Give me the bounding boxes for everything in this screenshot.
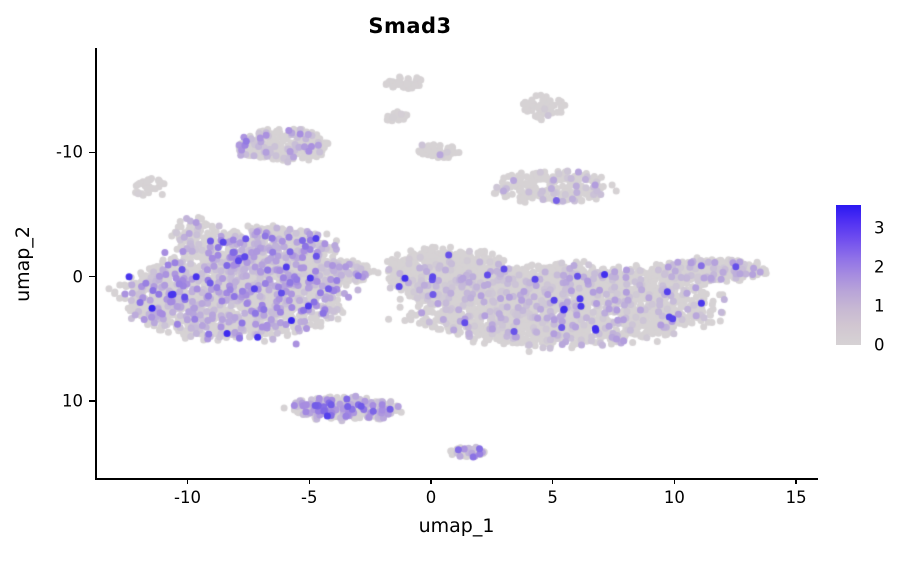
page-title: Smad3: [0, 14, 820, 38]
y-tick-mark: [89, 276, 95, 277]
x-tick-mark: [187, 478, 188, 484]
colorbar-tick-label: 1: [874, 297, 885, 316]
y-tick-label: -10: [56, 143, 83, 162]
scatter-canvas: [95, 48, 818, 478]
x-tick-label: 15: [786, 488, 807, 507]
colorbar-gradient: [836, 205, 861, 345]
x-tick-mark: [309, 478, 310, 484]
y-tick-label: 0: [73, 267, 84, 286]
colorbar-tick-label: 2: [874, 258, 885, 277]
colorbar: 3210: [836, 205, 861, 345]
plot-axes: -10-5051015 100-10 umap_1 umap_2: [95, 48, 818, 480]
colorbar-tick-mark: [861, 306, 866, 307]
x-tick-label: 0: [426, 488, 437, 507]
x-tick-mark: [795, 478, 796, 484]
x-tick-label: 10: [664, 488, 685, 507]
x-axis-label: umap_1: [95, 515, 818, 537]
umap-feature-plot: Smad3 -10-5051015 100-10 umap_1 umap_2 3…: [0, 0, 911, 562]
y-tick-label: 10: [62, 391, 83, 410]
x-tick-mark: [674, 478, 675, 484]
y-axis-label: umap_2: [12, 226, 34, 302]
x-tick-label: -10: [174, 488, 201, 507]
x-tick-mark: [430, 478, 431, 484]
colorbar-tick-label: 3: [874, 219, 885, 238]
axis-spine-bottom: [95, 478, 818, 480]
axis-spine-left: [95, 48, 97, 480]
x-tick-label: -5: [301, 488, 317, 507]
colorbar-tick-mark: [861, 228, 866, 229]
colorbar-tick-mark: [861, 267, 866, 268]
y-tick-mark: [89, 400, 95, 401]
colorbar-tick-label: 0: [874, 336, 885, 355]
y-tick-mark: [89, 152, 95, 153]
x-tick-mark: [552, 478, 553, 484]
colorbar-tick-mark: [861, 345, 866, 346]
x-tick-label: 5: [547, 488, 558, 507]
